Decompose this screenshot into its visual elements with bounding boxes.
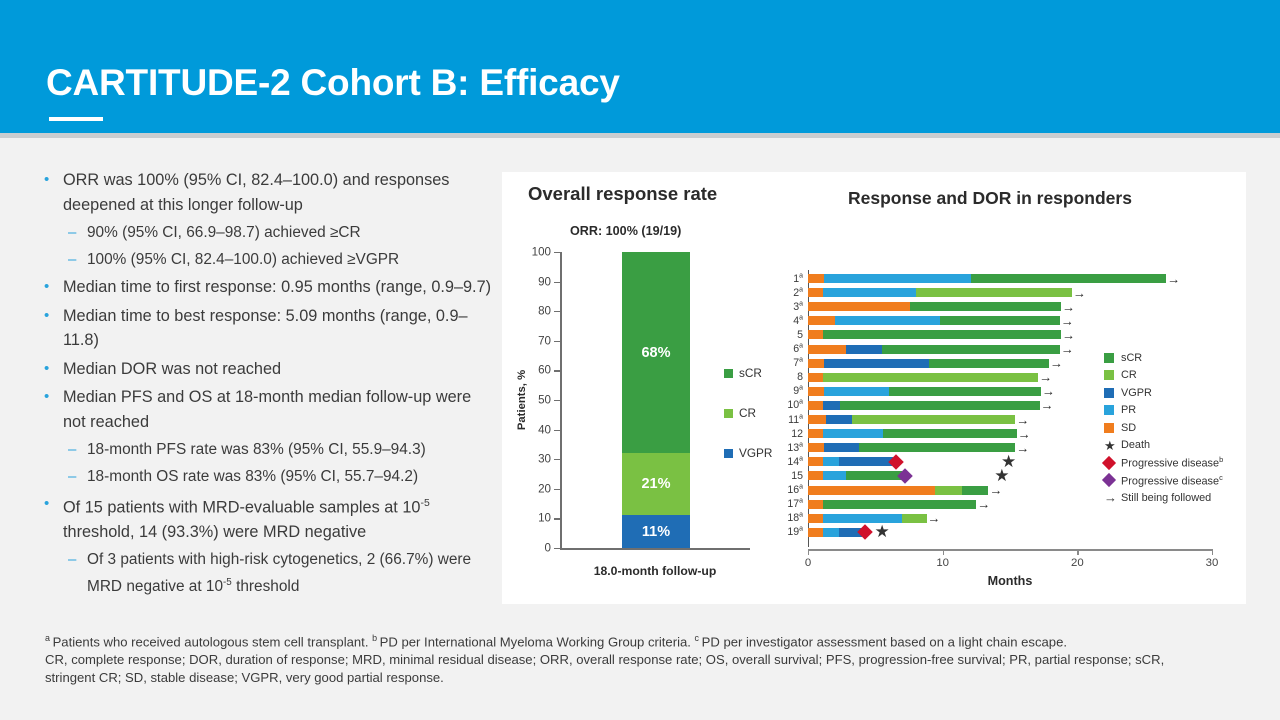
swimmer-segment-pr: [824, 387, 889, 396]
legend-label: VGPR: [1121, 387, 1152, 399]
swimmer-legend-item: VGPR: [1104, 384, 1223, 402]
swimmer-segment-scr: [940, 316, 1060, 325]
dash-marker-icon: –: [68, 438, 87, 461]
swimmer-x-axis: [808, 549, 1212, 551]
still-being-followed-arrow-icon: →: [1018, 427, 1031, 440]
swimmer-segment-vgpr: [824, 443, 859, 452]
bullet-item: •Median time to best response: 5.09 mont…: [44, 304, 496, 353]
still-being-followed-arrow-icon: →: [1016, 413, 1029, 426]
still-being-followed-arrow-icon: →: [1041, 399, 1054, 412]
swimmer-segment-pr: [823, 528, 839, 537]
orr-y-tick-label: 0: [545, 542, 551, 555]
bullet-text: 18-month PFS rate was 83% (95% CI, 55.9–…: [87, 438, 496, 461]
legend-label: VGPR: [739, 446, 772, 460]
swimmer-x-tick-label: 10: [936, 557, 949, 569]
swimmer-segment-sd: [808, 274, 824, 283]
swimmer-legend-item: sCR: [1104, 349, 1223, 367]
death-star-icon: ★: [994, 467, 1009, 484]
legend-arrow-icon: →: [1104, 491, 1114, 504]
orr-y-tick: [554, 341, 560, 342]
orr-y-tick: [554, 370, 560, 371]
swimmer-segment-sd: [808, 401, 823, 410]
swimmer-row-label: 8: [797, 371, 803, 383]
bullet-item: •Median DOR was not reached: [44, 357, 496, 382]
swimmer-row-label: 14a: [787, 455, 803, 468]
bullet-text: ORR was 100% (95% CI, 82.4–100.0) and re…: [63, 168, 496, 217]
bullet-text: Of 15 patients with MRD-evaluable sample…: [63, 492, 496, 544]
swimmer-segment-scr: [840, 401, 1039, 410]
swimmer-segment-scr: [910, 302, 1061, 311]
swimmer-row-label: 11a: [788, 413, 803, 426]
still-being-followed-arrow-icon: →: [1061, 343, 1074, 356]
orr-bar-chart: ORR: 100% (19/19) Patients, % 18.0-month…: [512, 224, 762, 594]
legend-diamond-icon: [1102, 473, 1116, 487]
swimmer-segment-sd: [808, 415, 826, 424]
bullet-list: •ORR was 100% (95% CI, 82.4–100.0) and r…: [44, 168, 496, 603]
still-being-followed-arrow-icon: →: [1062, 328, 1075, 341]
still-being-followed-arrow-icon: →: [977, 498, 990, 511]
swimmer-segment-pr: [823, 288, 916, 297]
swimmer-segment-pr: [823, 471, 846, 480]
swimmer-legend-item: CR: [1104, 367, 1223, 385]
swimmer-row-label: 3a: [793, 300, 803, 313]
bullet-text: Of 3 patients with high-risk cytogenetic…: [87, 548, 496, 598]
swimmer-row-label: 4a: [793, 314, 803, 327]
orr-y-tick-label: 40: [538, 423, 551, 436]
orr-legend-item: VGPR: [724, 446, 772, 460]
bullet-marker-icon: •: [44, 385, 63, 409]
swimmer-segment-pr: [823, 429, 884, 438]
figure-panel: Overall response rate Response and DOR i…: [502, 172, 1246, 604]
orr-bar-segment-cr: 21%: [622, 453, 690, 515]
orr-y-tick: [554, 311, 560, 312]
swimmer-segment-scr: [846, 471, 903, 480]
orr-y-axis-title: Patients, %: [516, 370, 528, 430]
swimmer-segment-pr: [835, 316, 940, 325]
swimmer-row-label: 16a: [787, 483, 803, 496]
swimmer-chart-title: Response and DOR in responders: [848, 188, 1132, 209]
bullet-text: 18-month OS rate was 83% (95% CI, 55.7–9…: [87, 465, 496, 488]
swimmer-segment-scr: [823, 330, 1061, 339]
swimmer-legend-item: ★Death: [1104, 437, 1223, 455]
legend-swatch-cr: [724, 409, 733, 418]
orr-y-tick-label: 30: [538, 453, 551, 466]
legend-label: Death: [1121, 439, 1150, 451]
legend-label: sCR: [739, 366, 762, 380]
legend-swatch-vgpr: [724, 449, 733, 458]
slide-root: CARTITUDE-2 Cohort B: Efficacy •ORR was …: [0, 0, 1280, 720]
bullet-marker-icon: •: [44, 304, 63, 328]
legend-label: PR: [1121, 404, 1136, 416]
swimmer-segment-sd: [808, 330, 823, 339]
dash-marker-icon: –: [68, 465, 87, 488]
dash-marker-icon: –: [68, 548, 87, 571]
bullet-item: •Of 15 patients with MRD-evaluable sampl…: [44, 492, 496, 544]
orr-bar-segment-vgpr: 11%: [622, 515, 690, 548]
still-being-followed-arrow-icon: →: [989, 484, 1002, 497]
swimmer-segment-pr: [823, 457, 839, 466]
orr-y-tick-label: 60: [538, 364, 551, 377]
orr-y-tick: [554, 459, 560, 460]
bullet-marker-icon: •: [44, 357, 63, 381]
bullet-marker-icon: •: [44, 168, 63, 192]
bullet-text: Median DOR was not reached: [63, 357, 496, 382]
swimmer-segment-pr: [823, 514, 902, 523]
bullet-marker-icon: •: [44, 275, 63, 299]
dash-marker-icon: –: [68, 221, 87, 244]
swimmer-row-label: 7a: [793, 357, 803, 370]
swimmer-segment-sd: [808, 514, 823, 523]
orr-bar-segment-scr: 68%: [622, 252, 690, 453]
swimmer-row-label: 19a: [787, 526, 803, 539]
legend-label: Progressive diseasec: [1121, 473, 1223, 488]
swimmer-row-label: 10a: [787, 399, 803, 412]
orr-y-tick-label: 70: [538, 334, 551, 347]
orr-y-tick: [554, 252, 560, 253]
still-being-followed-arrow-icon: →: [928, 512, 941, 525]
orr-y-tick-label: 90: [538, 275, 551, 288]
still-being-followed-arrow-icon: →: [1039, 371, 1052, 384]
swimmer-segment-sd: [808, 316, 835, 325]
bullet-item: –18-month OS rate was 83% (95% CI, 55.7–…: [44, 465, 496, 488]
bullet-item: •Median PFS and OS at 18-month median fo…: [44, 385, 496, 434]
swimmer-segment-cr: [935, 486, 962, 495]
legend-swatch-scr: [724, 369, 733, 378]
swimmer-x-tick-label: 30: [1206, 557, 1219, 569]
orr-y-tick: [554, 282, 560, 283]
orr-legend-item: sCR: [724, 366, 772, 380]
swimmer-plot: Months 01020301a→2a→3a→4a→5→6a→7a→8→9a→1…: [772, 224, 1242, 604]
legend-swatch-pr: [1104, 405, 1114, 415]
legend-label: CR: [1121, 369, 1137, 381]
legend-label: Progressive diseaseb: [1121, 455, 1223, 470]
bullet-marker-icon: •: [44, 492, 63, 516]
swimmer-row: 5→: [808, 330, 1212, 339]
swimmer-segment-sd: [808, 443, 824, 452]
swimmer-x-tick: [1077, 549, 1078, 555]
swimmer-row-label: 2a: [793, 286, 803, 299]
swimmer-segment-cr: [902, 514, 926, 523]
bullet-item: –100% (95% CI, 82.4–100.0) achieved ≥VGP…: [44, 248, 496, 271]
swimmer-segment-vgpr: [826, 415, 853, 424]
orr-bar-segment-label: 11%: [622, 524, 690, 540]
orr-y-tick: [554, 400, 560, 401]
swimmer-segment-sd: [808, 373, 823, 382]
swimmer-legend-item: PR: [1104, 402, 1223, 420]
swimmer-legend-item: SD: [1104, 419, 1223, 437]
swimmer-row: 4a→: [808, 316, 1212, 325]
footnote-symbols: a Patients who received autologous stem …: [45, 630, 1165, 651]
swimmer-segment-cr: [916, 288, 1072, 297]
swimmer-segment-sd: [808, 486, 935, 495]
orr-y-tick: [554, 548, 560, 549]
swimmer-row-label: 5: [797, 329, 803, 341]
swimmer-row-label: 1a: [793, 272, 803, 285]
death-star-icon: ★: [874, 523, 889, 540]
orr-y-tick: [554, 518, 560, 519]
swimmer-segment-vgpr: [823, 401, 841, 410]
swimmer-x-tick-label: 20: [1071, 557, 1084, 569]
legend-swatch-vgpr: [1104, 388, 1114, 398]
swimmer-row: 2a→: [808, 288, 1212, 297]
swimmer-x-axis-title: Months: [988, 574, 1033, 588]
swimmer-segment-cr: [852, 415, 1015, 424]
orr-legend-item: CR: [724, 406, 772, 420]
swimmer-segment-scr: [971, 274, 1166, 283]
orr-y-tick-label: 80: [538, 305, 551, 318]
bullet-item: •ORR was 100% (95% CI, 82.4–100.0) and r…: [44, 168, 496, 217]
swimmer-row-label: 12: [791, 427, 803, 439]
legend-swatch-cr: [1104, 370, 1114, 380]
orr-y-axis: [560, 252, 562, 548]
swimmer-row-label: 9a: [793, 385, 803, 398]
swimmer-row-label: 18a: [787, 512, 803, 525]
orr-x-axis: [560, 548, 750, 550]
still-being-followed-arrow-icon: →: [1061, 314, 1074, 327]
swimmer-row-label: 15: [791, 470, 803, 482]
legend-label: sCR: [1121, 352, 1142, 364]
swimmer-row-label: 6a: [793, 342, 803, 355]
legend-label: Still being followed: [1121, 492, 1211, 504]
swimmer-segment-sd: [808, 359, 824, 368]
bullet-text: Median time to best response: 5.09 month…: [63, 304, 496, 353]
page-title: CARTITUDE-2 Cohort B: Efficacy: [46, 62, 620, 104]
swimmer-segment-pr: [824, 274, 971, 283]
orr-y-tick-label: 20: [538, 482, 551, 495]
orr-y-tick: [554, 489, 560, 490]
still-being-followed-arrow-icon: →: [1016, 441, 1029, 454]
bullet-text: 100% (95% CI, 82.4–100.0) achieved ≥VGPR: [87, 248, 496, 271]
bullet-text: 90% (95% CI, 66.9–98.7) achieved ≥CR: [87, 221, 496, 244]
footnote-abbreviations: CR, complete response; DOR, duration of …: [45, 651, 1165, 686]
swimmer-x-tick: [943, 549, 944, 555]
swimmer-segment-sd: [808, 288, 823, 297]
orr-y-tick-label: 100: [532, 246, 551, 259]
bullet-text: Median time to first response: 0.95 mont…: [63, 275, 496, 300]
swimmer-row: 1a→: [808, 274, 1212, 283]
swimmer-segment-vgpr: [839, 457, 893, 466]
legend-star-icon: ★: [1104, 439, 1114, 452]
swimmer-x-tick-label: 0: [805, 557, 811, 569]
title-underline-accent: [49, 117, 103, 121]
bullet-item: –Of 3 patients with high-risk cytogeneti…: [44, 548, 496, 598]
swimmer-legend-item: Progressive diseaseb: [1104, 454, 1223, 472]
dash-marker-icon: –: [68, 248, 87, 271]
swimmer-legend-item: →Still being followed: [1104, 489, 1223, 507]
bullet-text: Median PFS and OS at 18-month median fol…: [63, 385, 496, 434]
orr-y-tick-label: 50: [538, 394, 551, 407]
legend-label: SD: [1121, 422, 1136, 434]
orr-legend: sCRCRVGPR: [724, 366, 772, 486]
swimmer-segment-sd: [808, 471, 823, 480]
orr-bar-segment-label: 68%: [622, 345, 690, 361]
orr-subtitle: ORR: 100% (19/19): [570, 224, 681, 238]
swimmer-segment-vgpr: [846, 345, 882, 354]
still-being-followed-arrow-icon: →: [1050, 357, 1063, 370]
swimmer-row: 3a→: [808, 302, 1212, 311]
swimmer-x-tick: [1212, 549, 1213, 555]
swimmer-segment-sd: [808, 457, 823, 466]
orr-bar-segment-label: 21%: [622, 476, 690, 492]
swimmer-segment-scr: [883, 429, 1016, 438]
swimmer-segment-sd: [808, 528, 823, 537]
swimmer-segment-scr: [823, 500, 977, 509]
bullet-item: •Median time to first response: 0.95 mon…: [44, 275, 496, 300]
swimmer-row-label: 13a: [787, 441, 803, 454]
swimmer-segment-scr: [889, 387, 1041, 396]
swimmer-segment-sd: [808, 387, 824, 396]
still-being-followed-arrow-icon: →: [1042, 385, 1055, 398]
swimmer-segment-sd: [808, 429, 823, 438]
still-being-followed-arrow-icon: →: [1073, 286, 1086, 299]
swimmer-row: 19a★: [808, 528, 1212, 537]
legend-swatch-scr: [1104, 353, 1114, 363]
swimmer-segment-sd: [808, 500, 823, 509]
bullet-item: –18-month PFS rate was 83% (95% CI, 55.9…: [44, 438, 496, 461]
orr-chart-title: Overall response rate: [528, 183, 717, 205]
header-divider: [0, 133, 1280, 138]
legend-swatch-sd: [1104, 423, 1114, 433]
legend-label: CR: [739, 406, 756, 420]
swimmer-segment-scr: [929, 359, 1049, 368]
still-being-followed-arrow-icon: →: [1062, 300, 1075, 313]
orr-y-tick-label: 10: [538, 512, 551, 525]
swimmer-row-label: 17a: [787, 498, 803, 511]
swimmer-segment-cr: [823, 373, 1038, 382]
still-being-followed-arrow-icon: →: [1167, 272, 1180, 285]
swimmer-segment-sd: [808, 302, 910, 311]
footnotes: a Patients who received autologous stem …: [45, 630, 1165, 686]
swimmer-segment-sd: [808, 345, 846, 354]
swimmer-segment-scr: [859, 443, 1015, 452]
swimmer-segment-vgpr: [824, 359, 929, 368]
bullet-item: –90% (95% CI, 66.9–98.7) achieved ≥CR: [44, 221, 496, 244]
orr-x-category-label: 18.0-month follow-up: [560, 564, 750, 578]
legend-diamond-icon: [1102, 456, 1116, 470]
swimmer-legend-item: Progressive diseasec: [1104, 472, 1223, 490]
swimmer-x-tick: [808, 549, 809, 555]
swimmer-row: 18a→: [808, 514, 1212, 523]
orr-plot-area: Patients, % 18.0-month follow-up 0102030…: [560, 252, 750, 548]
orr-y-tick: [554, 430, 560, 431]
swimmer-legend: sCRCRVGPRPRSD★DeathProgressive diseasebP…: [1104, 349, 1223, 507]
swimmer-segment-scr: [882, 345, 1060, 354]
swimmer-segment-scr: [962, 486, 989, 495]
